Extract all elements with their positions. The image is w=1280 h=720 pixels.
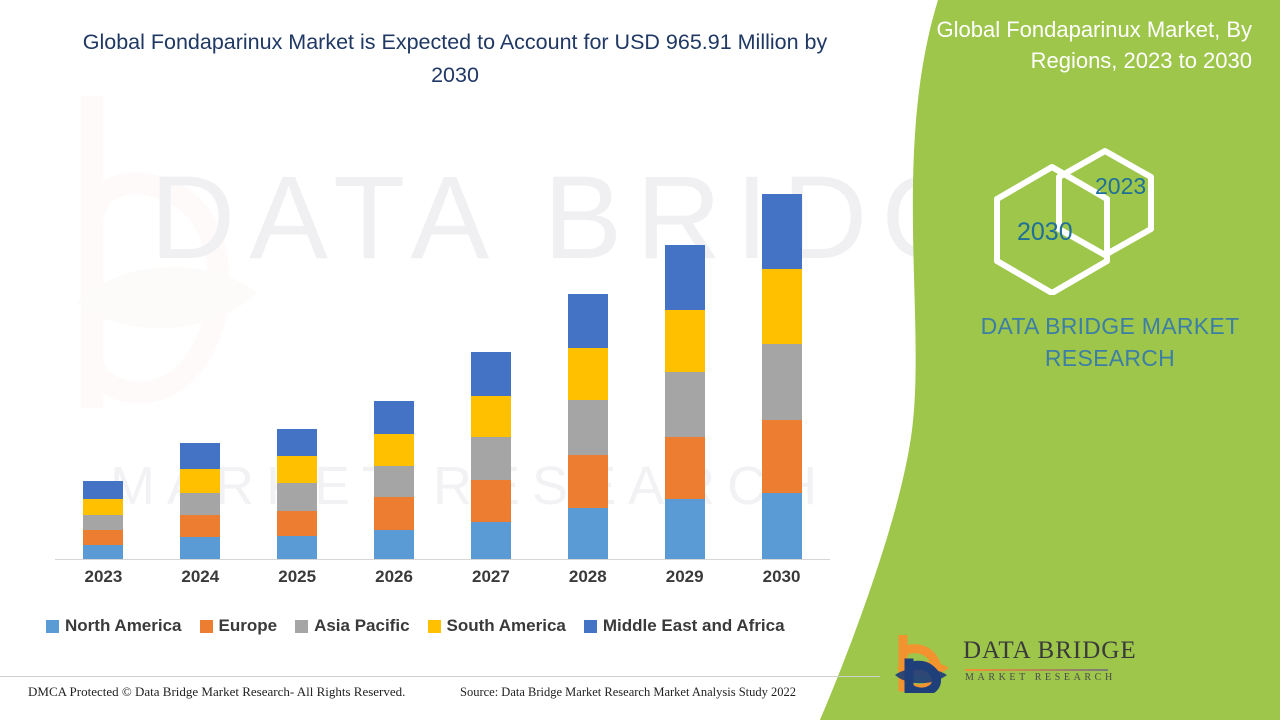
hexagon-badges: 2023 2030 <box>985 145 1195 295</box>
bar-segment <box>471 396 511 437</box>
legend-label: North America <box>65 616 182 636</box>
bar-segment <box>568 455 608 508</box>
bar-chart-plot <box>55 120 830 560</box>
bar-column-2030 <box>733 121 830 559</box>
bar-segment <box>762 493 802 559</box>
logo-divider <box>965 669 1108 671</box>
x-axis-line <box>55 559 830 560</box>
x-axis-label-2024: 2024 <box>152 567 249 595</box>
bar-segment <box>374 497 414 530</box>
legend-item[interactable]: Middle East and Africa <box>584 616 785 636</box>
bar-segment <box>277 483 317 511</box>
bar-column-2029 <box>636 121 733 559</box>
bar-segment <box>665 245 705 310</box>
legend-label: Middle East and Africa <box>603 616 785 636</box>
data-bridge-logo: DATA BRIDGE MARKET RESEARCH <box>895 633 1110 695</box>
legend-item[interactable]: South America <box>428 616 566 636</box>
legend-label: Asia Pacific <box>314 616 409 636</box>
bar-segment <box>374 401 414 434</box>
bar-segment <box>180 515 220 537</box>
footer-copyright: DMCA Protected © Data Bridge Market Rese… <box>28 684 405 700</box>
legend-label: Europe <box>219 616 278 636</box>
legend-item[interactable]: Europe <box>200 616 278 636</box>
x-axis-label-2026: 2026 <box>346 567 443 595</box>
infographic-page: DATA BRIDGE MARKET RESEARCH Global Fonda… <box>0 0 1280 720</box>
bar-segment <box>277 456 317 483</box>
bar-segment <box>471 522 511 559</box>
x-axis-label-2025: 2025 <box>249 567 346 595</box>
chart-legend: North AmericaEuropeAsia PacificSouth Ame… <box>46 616 836 636</box>
stacked-bar <box>665 245 705 559</box>
bar-segment <box>374 530 414 559</box>
bar-segment <box>568 508 608 559</box>
bar-segment <box>762 194 802 269</box>
bar-segment <box>277 429 317 456</box>
logo-subtitle: MARKET RESEARCH <box>965 672 1116 683</box>
bar-column-2023 <box>55 121 152 559</box>
bar-segment <box>374 466 414 497</box>
bar-segment <box>83 481 123 499</box>
stacked-bar <box>762 194 802 559</box>
bar-segment <box>277 536 317 559</box>
bar-segment <box>471 437 511 480</box>
footer-source: Source: Data Bridge Market Research Mark… <box>460 685 796 700</box>
bar-segment <box>665 310 705 372</box>
bar-segment <box>277 511 317 536</box>
bar-segment <box>471 352 511 396</box>
legend-swatch-icon <box>46 620 59 633</box>
stacked-bar <box>180 443 220 559</box>
brand-name: DATA BRIDGE MARKET RESEARCH <box>945 310 1275 374</box>
bar-segment <box>762 420 802 493</box>
x-axis-label-2023: 2023 <box>55 567 152 595</box>
bar-segment <box>180 493 220 515</box>
bar-segment <box>374 434 414 466</box>
bar-segment <box>665 499 705 559</box>
legend-label: South America <box>447 616 566 636</box>
x-axis-label-2029: 2029 <box>636 567 733 595</box>
bar-segment <box>83 530 123 545</box>
bar-segment <box>83 515 123 530</box>
legend-item[interactable]: North America <box>46 616 182 636</box>
bar-column-2026 <box>346 121 443 559</box>
bar-column-2027 <box>443 121 540 559</box>
bar-segment <box>568 348 608 400</box>
hexagon-2023-label: 2023 <box>1095 173 1146 200</box>
hexagon-2030-label: 2030 <box>1017 218 1073 247</box>
bar-segment <box>83 545 123 559</box>
bar-column-2025 <box>249 121 346 559</box>
bar-segment <box>471 480 511 522</box>
right-panel-title: Global Fondaparinux Market, By Regions, … <box>892 14 1252 76</box>
page-title: Global Fondaparinux Market is Expected t… <box>60 26 850 92</box>
stacked-bar <box>471 352 511 559</box>
x-axis-labels: 20232024202520262027202820292030 <box>55 567 830 595</box>
bar-segment <box>180 443 220 469</box>
bar-segment <box>568 400 608 455</box>
stacked-bar <box>374 401 414 559</box>
bar-column-2024 <box>152 121 249 559</box>
bar-segment <box>762 269 802 344</box>
stacked-bar <box>83 481 123 559</box>
legend-swatch-icon <box>584 620 597 633</box>
legend-item[interactable]: Asia Pacific <box>295 616 409 636</box>
footer-divider <box>0 676 880 677</box>
bar-segment <box>665 437 705 499</box>
legend-swatch-icon <box>200 620 213 633</box>
stacked-bar <box>277 429 317 559</box>
bar-segment <box>762 344 802 420</box>
stacked-bar <box>568 294 608 559</box>
legend-swatch-icon <box>428 620 441 633</box>
bar-segment <box>83 499 123 515</box>
x-axis-label-2027: 2027 <box>443 567 540 595</box>
legend-swatch-icon <box>295 620 308 633</box>
bar-segment <box>665 372 705 437</box>
bar-column-2028 <box>539 121 636 559</box>
logo-b-icon <box>895 635 957 693</box>
bar-segment <box>568 294 608 348</box>
bar-segment <box>180 537 220 559</box>
x-axis-label-2028: 2028 <box>539 567 636 595</box>
bar-series-container <box>55 121 830 559</box>
logo-title: DATA BRIDGE <box>963 637 1137 665</box>
bar-segment <box>180 469 220 493</box>
x-axis-label-2030: 2030 <box>733 567 830 595</box>
